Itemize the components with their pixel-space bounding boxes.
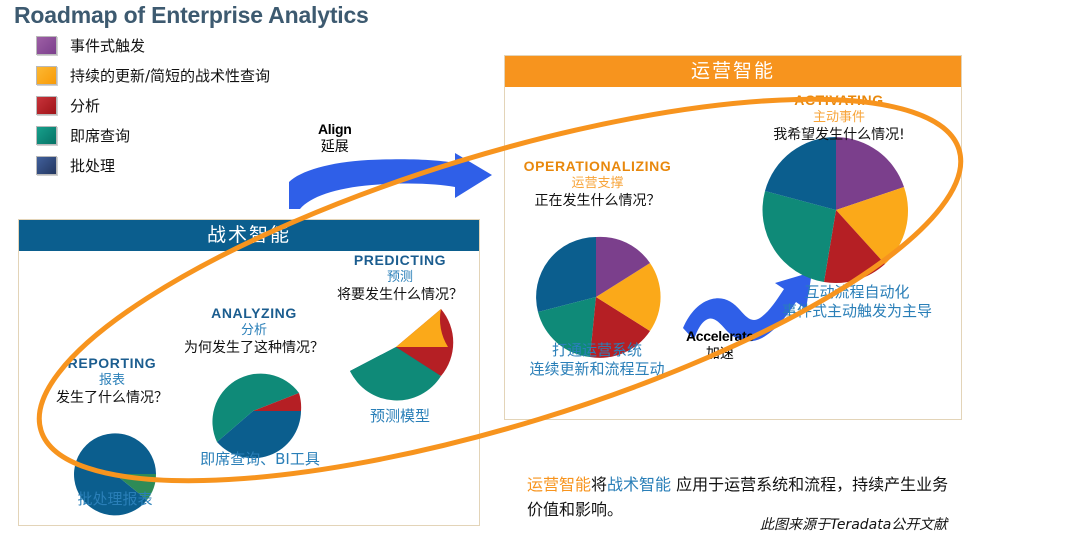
align-label: Align 延展 bbox=[318, 121, 352, 157]
stage-en: ANALYZING bbox=[168, 305, 340, 322]
stage-label-operationalizing: OPERATIONALIZING 运营支撑 正在发生什么情况？ bbox=[515, 158, 680, 210]
stage-en: REPORTING bbox=[32, 355, 192, 372]
stage-label-analyzing: ANALYZING 分析 为何发生了这种情况？ bbox=[168, 305, 340, 357]
page-title: Roadmap of Enterprise Analytics bbox=[14, 2, 369, 29]
legend-item-continuous-update: 持续的更新/简短的战术性查询 bbox=[36, 60, 456, 90]
stage-question: 正在发生什么情况？ bbox=[515, 192, 680, 210]
legend-item-analysis: 分析 bbox=[36, 90, 456, 120]
attribution-text: 此图来源于Teradata公开文献 bbox=[760, 514, 947, 534]
stage-cn: 运营支撑 bbox=[515, 175, 680, 192]
stage-cn: 报表 bbox=[32, 372, 192, 389]
stage-cn: 主动事件 bbox=[744, 109, 934, 126]
accelerate-label-cn: 加速 bbox=[686, 345, 754, 364]
stage-label-reporting: REPORTING 报表 发生了什么情况？ bbox=[32, 355, 192, 407]
panel-tactical-header: 战术智能 bbox=[19, 220, 479, 251]
accelerate-label-en: Accelerate bbox=[686, 328, 754, 345]
stage-cn: 分析 bbox=[168, 322, 340, 339]
align-label-cn: 延展 bbox=[318, 138, 352, 157]
stage-en: ACTIVATING bbox=[744, 92, 934, 109]
legend: 事件式触发 持续的更新/简短的战术性查询 分析 即席查询 批处理 bbox=[36, 30, 456, 180]
panel-operational-header: 运营智能 bbox=[505, 56, 961, 87]
caption-tactical-term: 战术智能 bbox=[607, 475, 671, 494]
accelerate-label: Accelerate 加速 bbox=[686, 328, 754, 364]
stage-question: 我希望发生什么情况! bbox=[744, 126, 934, 144]
stage-question: 为何发生了这种情况？ bbox=[168, 339, 340, 357]
legend-item-adhoc-query: 即席查询 bbox=[36, 120, 456, 150]
caption-connector: 将 bbox=[591, 475, 607, 494]
stage-label-predicting: PREDICTING 预测 将要发生什么情况？ bbox=[330, 252, 470, 304]
stage-en: PREDICTING bbox=[330, 252, 470, 269]
legend-swatch-orange-icon bbox=[36, 66, 57, 85]
legend-item-event-trigger: 事件式触发 bbox=[36, 30, 456, 60]
legend-swatch-teal-icon bbox=[36, 126, 57, 145]
pie-caption-operationalizing: 打通运营系统 连续更新和流程互动 bbox=[522, 341, 672, 379]
legend-label: 分析 bbox=[70, 95, 100, 116]
stage-label-activating: ACTIVATING 主动事件 我希望发生什么情况! bbox=[744, 92, 934, 144]
legend-swatch-red-icon bbox=[36, 96, 57, 115]
legend-swatch-purple-icon bbox=[36, 36, 57, 55]
legend-label: 即席查询 bbox=[70, 125, 130, 146]
pie-caption-reporting: 批处理报表 bbox=[55, 490, 175, 509]
legend-item-batch: 批处理 bbox=[36, 150, 456, 180]
legend-label: 事件式触发 bbox=[70, 35, 145, 56]
legend-swatch-navy-icon bbox=[36, 156, 57, 175]
pie-caption-activating: 互动流程自动化 事件式主动触发为主导 bbox=[757, 283, 957, 321]
legend-label: 持续的更新/简短的战术性查询 bbox=[70, 65, 270, 86]
caption-operational-term: 运营智能 bbox=[527, 475, 591, 494]
stage-question: 将要发生什么情况？ bbox=[330, 286, 470, 304]
align-label-en: Align bbox=[318, 121, 352, 138]
pie-caption-predicting: 预测模型 bbox=[340, 407, 460, 426]
pie-caption-analyzing: 即席查询、BI工具 bbox=[185, 450, 335, 469]
stage-question: 发生了什么情况？ bbox=[32, 389, 192, 407]
stage-cn: 预测 bbox=[330, 269, 470, 286]
legend-label: 批处理 bbox=[70, 155, 115, 176]
stage-en: OPERATIONALIZING bbox=[515, 158, 680, 175]
